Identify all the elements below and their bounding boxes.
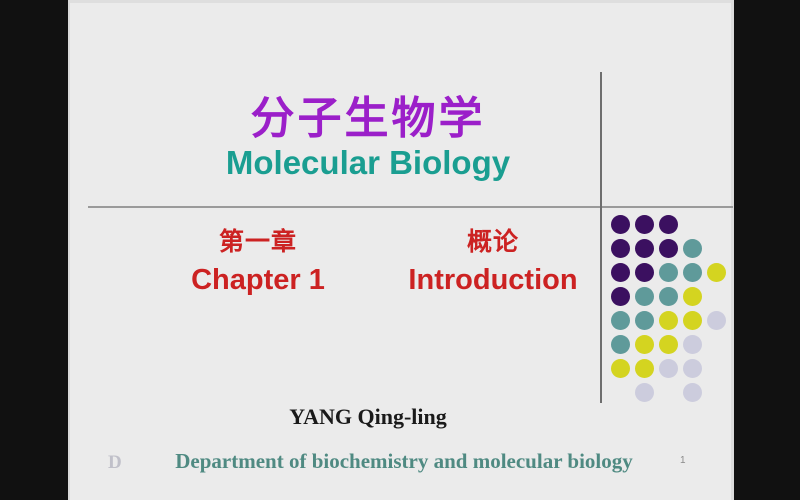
- dot-r7-c3: [683, 383, 702, 402]
- letterbox-left: [0, 0, 68, 500]
- dot-r0-c0: [611, 215, 630, 234]
- chapter-row-chinese: 第一章 概论: [148, 222, 618, 258]
- dot-r5-c3: [683, 335, 702, 354]
- horizontal-divider: [88, 206, 733, 208]
- dot-r3-c1: [635, 287, 654, 306]
- dot-r6-c2: [659, 359, 678, 378]
- slide-top-edge: [68, 0, 734, 3]
- dot-r0-c2: [659, 215, 678, 234]
- department-line: Department of biochemistry and molecular…: [94, 449, 714, 474]
- slide-right-edge: [731, 0, 734, 500]
- dot-r0-c1: [635, 215, 654, 234]
- dot-r6-c0: [611, 359, 630, 378]
- dot-r1-c3: [683, 239, 702, 258]
- dot-r3-c0: [611, 287, 630, 306]
- chapter-label-chinese: 第一章: [148, 222, 368, 258]
- dot-r2-c3: [683, 263, 702, 282]
- title-block: 分子生物学 Molecular Biology: [68, 96, 668, 181]
- presentation-slide: 分子生物学 Molecular Biology 第一章 概论 Chapter 1…: [68, 0, 734, 500]
- slide-canvas: 分子生物学 Molecular Biology 第一章 概论 Chapter 1…: [0, 0, 800, 500]
- dot-r4-c1: [635, 311, 654, 330]
- dot-r4-c2: [659, 311, 678, 330]
- dot-r1-c2: [659, 239, 678, 258]
- dot-r1-c0: [611, 239, 630, 258]
- dot-r2-c2: [659, 263, 678, 282]
- dot-r4-c0: [611, 311, 630, 330]
- author-name: YANG Qing-ling: [68, 404, 668, 430]
- dot-r2-c4: [707, 263, 726, 282]
- dot-r6-c1: [635, 359, 654, 378]
- page-title-english: Molecular Biology: [68, 146, 668, 181]
- dot-r2-c0: [611, 263, 630, 282]
- dot-r4-c4: [707, 311, 726, 330]
- chapter-topic-english: Introduction: [368, 264, 618, 297]
- dot-r1-c1: [635, 239, 654, 258]
- dot-r7-c1: [635, 383, 654, 402]
- dot-r3-c2: [659, 287, 678, 306]
- page-title-chinese: 分子生物学: [68, 96, 668, 142]
- dot-r5-c0: [611, 335, 630, 354]
- decorative-dot-grid: [608, 212, 726, 390]
- chapter-row-english: Chapter 1 Introduction: [148, 264, 618, 297]
- letterbox-right: [734, 0, 800, 500]
- dot-r5-c2: [659, 335, 678, 354]
- dot-r5-c1: [635, 335, 654, 354]
- dot-r6-c3: [683, 359, 702, 378]
- chapter-block: 第一章 概论 Chapter 1 Introduction: [148, 222, 618, 297]
- dot-r2-c1: [635, 263, 654, 282]
- dot-r3-c3: [683, 287, 702, 306]
- department-overlap-artifact: D: [108, 452, 122, 474]
- page-number: 1: [680, 455, 686, 466]
- dot-r4-c3: [683, 311, 702, 330]
- chapter-topic-chinese: 概论: [368, 222, 618, 258]
- chapter-label-english: Chapter 1: [148, 264, 368, 297]
